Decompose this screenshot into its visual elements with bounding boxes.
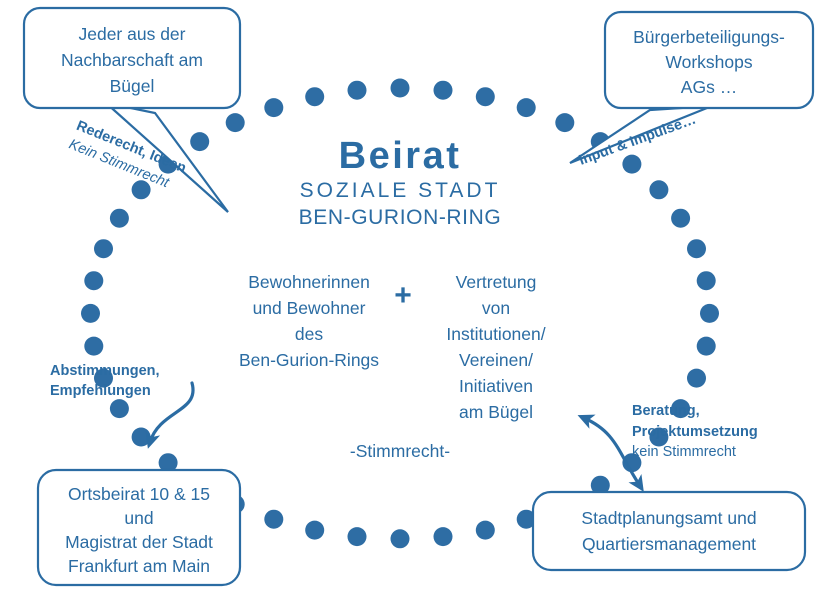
ring-dot xyxy=(687,239,706,258)
bubble-top-right-line-2: Workshops xyxy=(665,52,752,72)
institutions-line-4: Vereinen/ xyxy=(459,350,533,370)
ring-dot xyxy=(305,521,324,540)
box-bottom-left-line-4: Frankfurt am Main xyxy=(68,556,210,576)
ring-dot xyxy=(476,521,495,540)
ring-dot xyxy=(110,399,129,418)
ring-dot xyxy=(391,79,410,98)
institutions-group: Vertretung von Institutionen/ Vereinen/ … xyxy=(446,272,545,422)
annotation-bottom-right-line-3: kein Stimmrecht xyxy=(632,444,736,460)
residents-line-1: Bewohnerinnen xyxy=(248,272,370,292)
organization-diagram: Beirat SOZIALE STADT BEN-GURION-RING Bew… xyxy=(0,0,820,600)
ring-dot xyxy=(264,510,283,529)
annotation-bottom-right: Beratung, Projektumsetzung kein Stimmrec… xyxy=(632,403,758,460)
ring-dot xyxy=(305,87,324,106)
residents-group: Bewohnerinnen und Bewohner des Ben-Gurio… xyxy=(239,272,379,370)
bubble-top-left-line-1: Jeder aus der xyxy=(78,24,185,44)
ring-dot xyxy=(622,155,641,174)
box-bottom-left-line-2: und xyxy=(124,508,153,528)
bubble-top-left-line-3: Bügel xyxy=(110,76,155,96)
bubble-top-right-line-3: AGs … xyxy=(681,77,737,97)
diagram-subtitle-line-1: SOZIALE STADT xyxy=(300,179,501,202)
bubble-top-left-line-2: Nachbarschaft am xyxy=(61,50,203,70)
ring-dot xyxy=(687,369,706,388)
institutions-line-5: Initiativen xyxy=(459,376,533,396)
diagram-subtitle-line-2: BEN-GURION-RING xyxy=(299,206,502,229)
ring-dot xyxy=(434,527,453,546)
ring-dot xyxy=(649,180,668,199)
center-content: Beirat SOZIALE STADT BEN-GURION-RING Bew… xyxy=(239,135,546,461)
ring-dot xyxy=(555,113,574,132)
ring-dot xyxy=(190,132,209,151)
annotation-bottom-left-line-1: Abstimmungen, xyxy=(50,363,160,379)
speech-bubble-top-right[interactable]: Bürgerbeteiligungs- Workshops AGs … xyxy=(570,12,813,163)
residents-line-3: des xyxy=(295,324,323,344)
residents-line-2: und Bewohner xyxy=(253,298,366,318)
box-bottom-right-line-1: Stadtplanungsamt und xyxy=(581,508,756,528)
residents-line-4: Ben-Gurion-Rings xyxy=(239,350,379,370)
ring-dot xyxy=(264,98,283,117)
box-bottom-left-line-1: Ortsbeirat 10 & 15 xyxy=(68,484,210,504)
annotation-bottom-right-line-2: Projektumsetzung xyxy=(632,424,758,440)
ring-dot xyxy=(697,271,716,290)
box-bottom-right[interactable]: Stadtplanungsamt und Quartiersmanagement xyxy=(533,492,805,570)
diagram-canvas: Beirat SOZIALE STADT BEN-GURION-RING Bew… xyxy=(0,0,820,600)
ring-dot xyxy=(434,81,453,100)
box-bottom-left-line-3: Magistrat der Stadt xyxy=(65,532,213,552)
box-bottom-right-body xyxy=(533,492,805,570)
ring-dot xyxy=(132,428,151,447)
box-bottom-right-line-2: Quartiersmanagement xyxy=(582,534,756,554)
annotation-bottom-right-line-1: Beratung, xyxy=(632,403,700,419)
ring-dot xyxy=(110,209,129,228)
institutions-line-3: Institutionen/ xyxy=(446,324,545,344)
arrow-votes-to-ortsbeirat xyxy=(150,383,193,442)
bubble-top-right-line-1: Bürgerbeteiligungs- xyxy=(633,27,785,47)
ring-dot xyxy=(517,98,536,117)
institutions-line-2: von xyxy=(482,298,510,318)
institutions-line-1: Vertretung xyxy=(456,272,537,292)
ring-dot xyxy=(348,527,367,546)
annotation-bottom-left-line-2: Empfehlungen xyxy=(50,383,151,399)
ring-dot xyxy=(84,271,103,290)
ring-dot xyxy=(94,239,113,258)
annotation-top-left: Rederecht, Ideen Kein Stimmrecht xyxy=(67,118,189,195)
ring-dot xyxy=(348,81,367,100)
plus-icon: + xyxy=(394,279,412,312)
speech-bubble-top-left[interactable]: Jeder aus der Nachbarschaft am Bügel xyxy=(24,8,240,212)
box-bottom-left[interactable]: Ortsbeirat 10 & 15 und Magistrat der Sta… xyxy=(38,470,240,585)
ring-dot xyxy=(697,337,716,356)
voting-rights-note: -Stimmrecht- xyxy=(350,441,450,461)
ring-dot xyxy=(81,304,100,323)
diagram-title: Beirat xyxy=(339,135,462,177)
ring-dot xyxy=(226,113,245,132)
ring-dot xyxy=(84,337,103,356)
ring-dot xyxy=(391,529,410,548)
ring-dot xyxy=(476,87,495,106)
ring-dot xyxy=(700,304,719,323)
institutions-line-6: am Bügel xyxy=(459,402,533,422)
ring-dot xyxy=(671,209,690,228)
